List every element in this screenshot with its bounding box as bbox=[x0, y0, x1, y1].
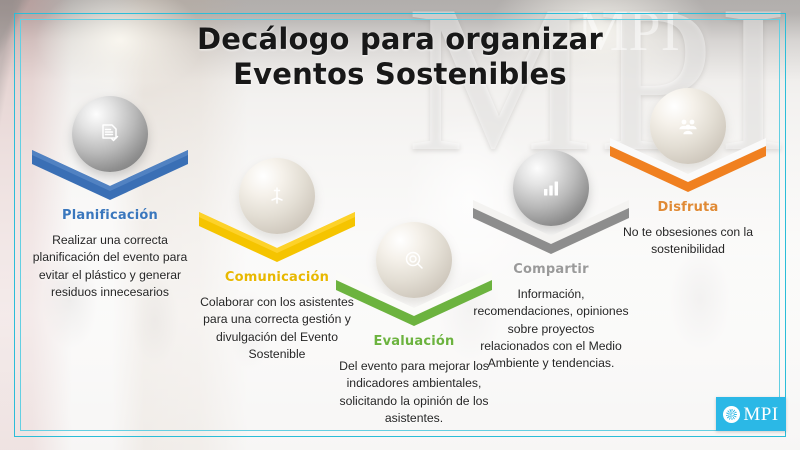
mpi-logo-text: MPI bbox=[743, 405, 778, 424]
globe-emblem-icon bbox=[723, 406, 740, 423]
chevron-ribbon bbox=[604, 138, 772, 194]
chevron-ribbon bbox=[26, 146, 194, 202]
step-disfruta: Disfruta No te obsesiones con la sosteni… bbox=[604, 88, 772, 259]
step-body: Información, recomendaciones, opiniones … bbox=[467, 286, 635, 373]
step-label: Disfruta bbox=[604, 200, 772, 215]
slide-canvas: MPI MPI Decálogo para organizar Eventos … bbox=[0, 0, 800, 450]
step-label: Compartir bbox=[467, 262, 635, 277]
mpi-logo: MPI bbox=[716, 397, 786, 431]
step-body: No te obsesiones con la sostenibilidad bbox=[604, 224, 772, 259]
step-label: Planificación bbox=[26, 208, 194, 223]
step-body: Realizar una correcta planificación del … bbox=[26, 232, 194, 301]
steps-container: Planificación Realizar una correcta plan… bbox=[0, 0, 800, 450]
step-planificacion: Planificación Realizar una correcta plan… bbox=[26, 96, 194, 301]
